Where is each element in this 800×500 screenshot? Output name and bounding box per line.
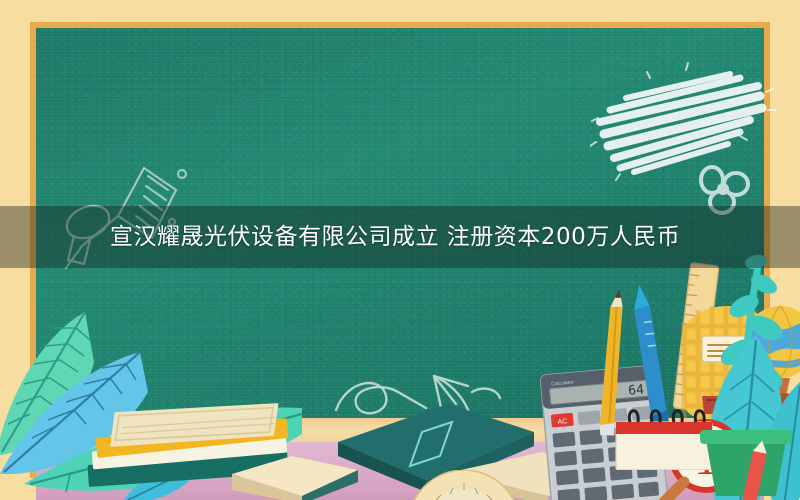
illustration-canvas: 64 Calculator AC [0,0,800,500]
protractor [404,470,524,500]
svg-text:AC: AC [557,418,567,426]
headline-banner: 宣汉耀晟光伏设备有限公司成立 注册资本200万人民币 [0,206,800,268]
page-title: 宣汉耀晟光伏设备有限公司成立 注册资本200万人民币 [110,226,680,249]
